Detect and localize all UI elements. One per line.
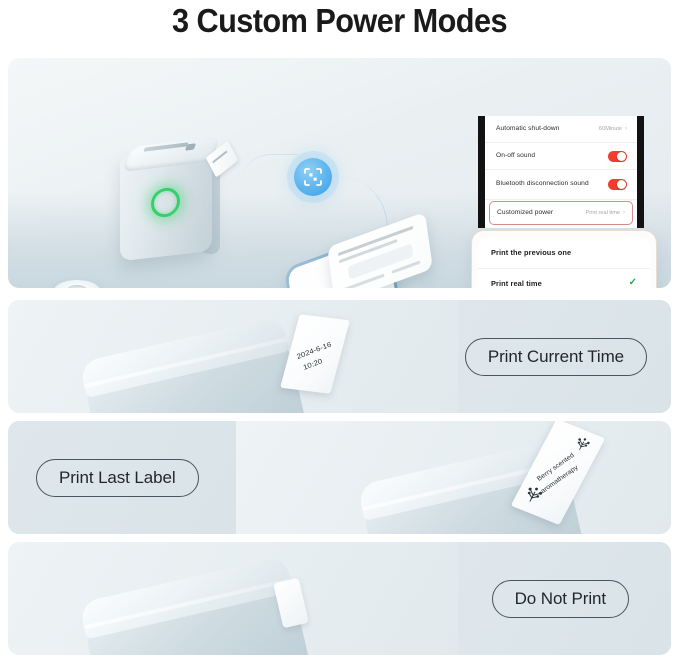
settings-row-value: 60Minute [599,126,622,132]
settings-row-label: On-off sound [496,152,608,160]
mode-pill-print-current-time[interactable]: Print Current Time [465,338,647,376]
dropdown-option-print-real-time[interactable]: Print real time ✓ [478,269,650,288]
mode-pill-do-not-print[interactable]: Do Not Print [492,580,629,618]
smartphone-mockup [286,230,428,288]
settings-row-value: Print real time [585,210,620,216]
hero-panel: Automatic shut-down 60Minute › On-off so… [8,58,671,288]
connection-curve [240,154,298,185]
bluetooth-scan-icon [294,158,332,196]
settings-row-automatic-shutdown[interactable]: Automatic shut-down 60Minute › [485,116,637,143]
label-printer-device [120,136,218,258]
settings-phone-ui: Automatic shut-down 60Minute › On-off so… [478,116,644,228]
chevron-right-icon: › [625,126,627,132]
settings-row-label: Customized power [497,209,585,217]
settings-row-on-off-sound[interactable]: On-off sound [485,143,637,170]
mode-panel-print-last-label: Print Last Label Berry scented aromather… [8,421,671,534]
toggle-switch-on-off-sound[interactable] [608,151,627,162]
tape-roll-hole [67,285,87,288]
page-title: 3 Custom Power Modes [24,2,655,40]
mode-pill-print-last-label[interactable]: Print Last Label [36,459,199,497]
berry-sprig-icon [571,434,594,454]
chevron-right-icon: › [623,210,625,216]
mode-panel-do-not-print: Do Not Print [8,542,671,655]
tape-line-date: 2024-6-16 [296,340,333,361]
tape-roll [54,280,100,288]
settings-row-customized-power[interactable]: Customized power Print real time › [489,201,633,225]
dropdown-option-label: Print the previous one [491,248,637,257]
mode-panel-print-current-time: 2024-6-16 10:20 Print Current Time [8,300,671,413]
settings-row-label: Bluetooth disconnection sound [496,180,608,188]
toggle-switch-bluetooth-sound[interactable] [608,179,627,190]
check-icon: ✓ [629,278,637,288]
dropdown-option-label: Print real time [491,279,629,288]
settings-row-label: Automatic shut-down [496,125,599,133]
settings-row-bluetooth-disconnection-sound[interactable]: Bluetooth disconnection sound [485,170,637,200]
phone-bezel-left [478,116,485,228]
settings-screen: Automatic shut-down 60Minute › On-off so… [485,116,637,228]
phone-bezel-right [637,116,644,228]
customized-power-dropdown: Print the previous one Print real time ✓… [471,230,657,288]
tape-line-time: 10:20 [302,357,323,372]
dropdown-option-print-previous[interactable]: Print the previous one [478,238,650,269]
